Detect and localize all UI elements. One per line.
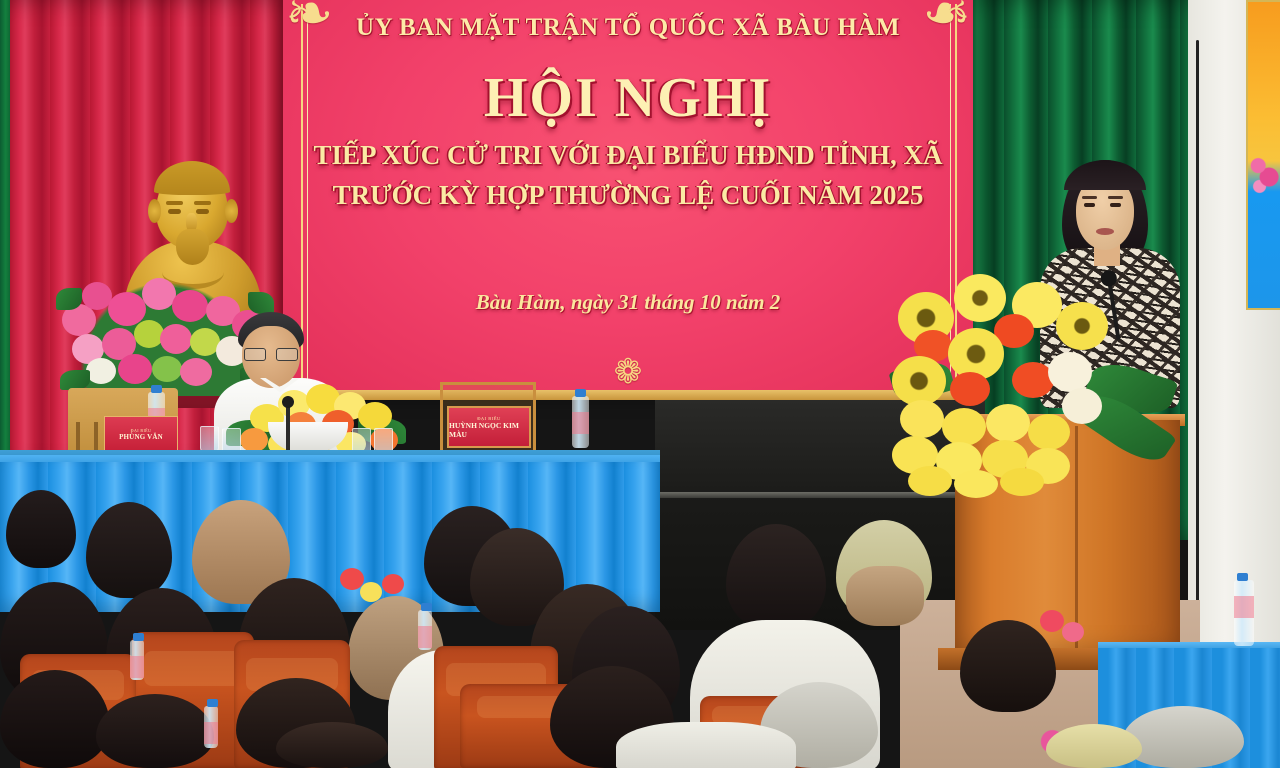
- orchid: [900, 400, 944, 438]
- flower-petal: [240, 428, 268, 452]
- flower-petal: [108, 292, 146, 326]
- flower-petal: [358, 402, 392, 430]
- name-placard-center: ĐẠI BIỂU HUỲNH NGỌC KIM MÀU: [447, 406, 531, 448]
- drinking-glass: [200, 426, 219, 452]
- bust-brow-left: [166, 201, 183, 205]
- name-placard-left: ĐẠI BIỂU PHÙNG VĂN: [104, 416, 178, 452]
- sunflower: [892, 356, 946, 406]
- banner-date-line: Bàu Hàm, ngày 31 tháng 10 năm 2: [283, 290, 973, 315]
- leaf: [248, 292, 274, 314]
- bottle-label: [572, 412, 589, 434]
- brow-left: [1082, 196, 1097, 199]
- poster-flower-graphic: [1248, 150, 1280, 202]
- water-bottle: [204, 706, 218, 748]
- brow-right: [1108, 196, 1123, 199]
- hair-fringe: [1064, 160, 1146, 190]
- bottle-label: [130, 656, 144, 678]
- white-flower: [1062, 388, 1102, 424]
- flower-petal: [118, 354, 152, 384]
- flower-petal: [1040, 610, 1064, 632]
- bottle-cap: [575, 389, 586, 397]
- audience-head: [726, 524, 826, 630]
- orchid: [942, 408, 986, 446]
- audience-shoulders: [616, 722, 796, 768]
- audience: [0, 470, 1280, 768]
- audience-head: [6, 490, 76, 568]
- conference-photo: ❧ ❧ ỦY BAN MẶT TRẬN TỔ QUỐC XÃ BÀU HÀM H…: [0, 0, 1280, 768]
- lotus-ornament-icon: ❁: [614, 356, 643, 390]
- banner-subtitle-line-2: TRƯỚC KỲ HỢP THƯỜNG LỆ CUỐI NĂM 2025: [283, 180, 973, 211]
- banner-organization-line: ỦY BAN MẶT TRẬN TỔ QUỐC XÃ BÀU HÀM: [283, 14, 973, 42]
- water-bottle: [418, 610, 432, 650]
- water-bottle: [572, 396, 589, 448]
- bust-hair: [154, 161, 230, 195]
- table-microphone: [286, 404, 290, 452]
- bust-ear-right: [225, 199, 238, 223]
- eye-left: [1084, 203, 1095, 207]
- mouth: [1096, 228, 1114, 235]
- sunflower-arrangement: [892, 268, 1192, 493]
- bust-brow-right: [194, 201, 211, 205]
- bust-eye-right: [196, 209, 209, 214]
- flower-petal: [160, 324, 192, 354]
- bottle-cap: [151, 385, 162, 393]
- audience-head: [86, 502, 172, 598]
- audience-head-grey: [1122, 706, 1244, 768]
- white-flower: [1048, 352, 1092, 392]
- water-bottle: [130, 640, 144, 680]
- flower-petal: [152, 356, 182, 382]
- bottle-label: [204, 722, 218, 744]
- flower-petal: [172, 290, 208, 322]
- audience-head: [276, 722, 388, 768]
- bust-eye-left: [168, 209, 181, 214]
- orchid: [1028, 414, 1070, 450]
- flower-petal: [142, 278, 176, 310]
- flower-petal: [360, 582, 382, 602]
- bust-ear-left: [148, 199, 161, 223]
- banner-subtitle-line-1: TIẾP XÚC CỬ TRI VỚI ĐẠI BIỂU HĐND TỈNH, …: [283, 140, 973, 171]
- leaf: [56, 288, 82, 310]
- flower-petal: [86, 358, 116, 384]
- placard-name-label: HUỲNH NGỌC KIM MÀU: [449, 421, 529, 439]
- eyeglasses: [244, 348, 298, 360]
- conference-banner: ❧ ❧ ỦY BAN MẶT TRẬN TỔ QUỐC XÃ BÀU HÀM H…: [283, 0, 973, 400]
- sunflower: [954, 274, 1006, 322]
- flower-petal: [180, 358, 212, 386]
- flower-petal: [382, 574, 404, 594]
- cap-brim: [846, 566, 924, 626]
- flower-petal: [134, 320, 164, 348]
- bottle-label: [418, 626, 432, 648]
- bottle-cap: [133, 633, 144, 641]
- orchid: [986, 404, 1030, 442]
- eye-right: [1110, 203, 1121, 207]
- bottle-cap: [421, 603, 432, 611]
- sunflower: [1056, 302, 1108, 350]
- bottle-cap: [207, 699, 218, 707]
- audience-head: [1046, 724, 1142, 768]
- flower-petal: [1062, 622, 1084, 642]
- audience-head: [960, 620, 1056, 712]
- banner-heading: HỘI NGHỊ: [283, 66, 973, 130]
- placard-name-label: PHÙNG VĂN: [119, 433, 163, 441]
- red-gerbera: [950, 372, 990, 406]
- leaf: [60, 370, 90, 390]
